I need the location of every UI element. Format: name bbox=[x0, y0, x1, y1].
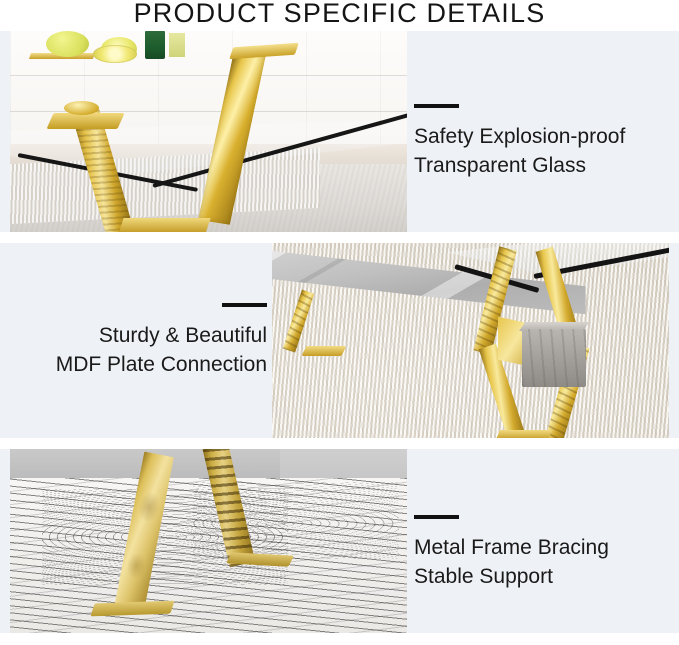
gold-foot bbox=[301, 346, 345, 356]
caption-safety-glass: Safety Explosion-proof Transparent Glass bbox=[414, 31, 664, 232]
caption-text: Metal Frame Bracing Stable Support bbox=[414, 533, 664, 591]
detail-section-metal-frame: Metal Frame Bracing Stable Support bbox=[0, 449, 679, 633]
detail-section-mdf-plate: Sturdy & Beautiful MDF Plate Connection bbox=[0, 243, 679, 438]
accent-dash-icon bbox=[414, 104, 459, 108]
caption-mdf-plate: Sturdy & Beautiful MDF Plate Connection bbox=[12, 243, 267, 438]
gold-leg-base bbox=[119, 218, 212, 232]
scene-legs-on-floor bbox=[10, 449, 407, 633]
scene-x-base-connector bbox=[272, 243, 669, 438]
cabinet-seam bbox=[10, 75, 407, 76]
page-title: PRODUCT SPECIFIC DETAILS bbox=[0, 0, 679, 29]
caption-text: Sturdy & Beautiful MDF Plate Connection bbox=[12, 321, 267, 379]
accent-dash-icon bbox=[222, 303, 267, 307]
detail-section-safety-glass: Safety Explosion-proof Transparent Glass bbox=[0, 31, 679, 232]
gold-foot bbox=[496, 430, 552, 438]
caption-text: Safety Explosion-proof Transparent Glass bbox=[414, 122, 664, 180]
caption-metal-frame: Metal Frame Bracing Stable Support bbox=[414, 449, 664, 633]
scene-glass-tabletop bbox=[10, 31, 407, 232]
lemon-slice bbox=[93, 45, 137, 63]
gold-foot bbox=[91, 600, 176, 616]
product-photo-mdf-plate bbox=[272, 243, 669, 438]
product-photo-metal-frame bbox=[10, 449, 407, 633]
yellow-bottle bbox=[169, 33, 185, 57]
green-bottle bbox=[145, 31, 165, 59]
gold-bracket bbox=[46, 113, 125, 129]
mdf-plate-block bbox=[522, 329, 586, 388]
product-photo-safety-glass bbox=[10, 31, 407, 232]
accent-dash-icon bbox=[414, 515, 459, 519]
